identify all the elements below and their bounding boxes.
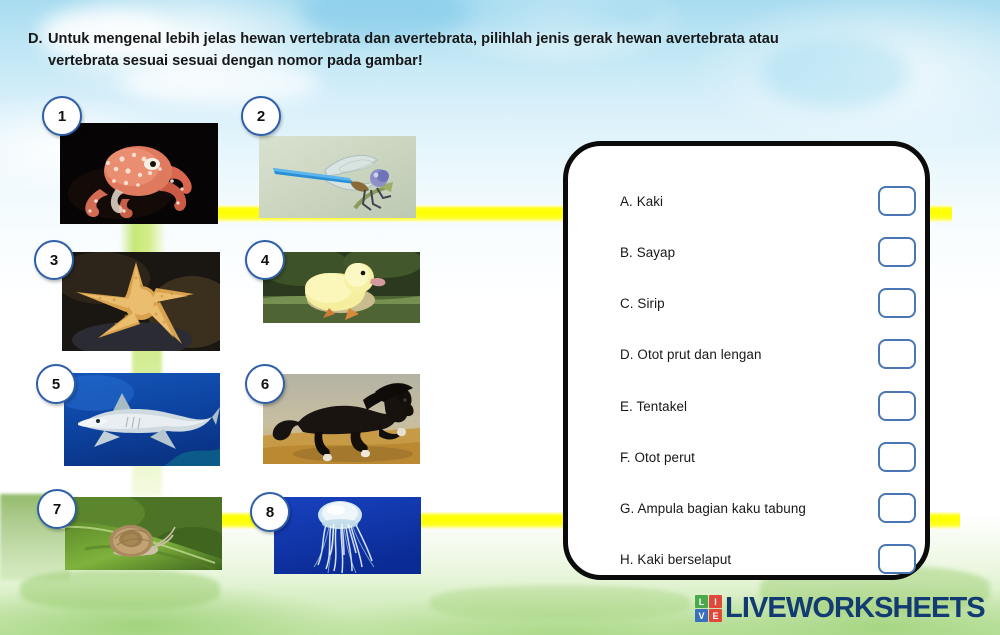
logo-tile-v: V [695,609,708,622]
jellyfish-image[interactable] [274,497,421,574]
option-label-h: H. Kaki berselaput [620,552,731,567]
option-label-e: E. Tentakel [620,399,687,414]
starfish-image[interactable] [62,252,220,351]
badge-number: 1 [58,108,66,125]
instruction-text: D.Untuk mengenal lebih jelas hewan verte… [28,28,948,72]
option-text-f: Otot perut [634,450,695,465]
option-label-b: B. Sayap [620,245,675,260]
option-label-a: A. Kaki [620,194,663,209]
badge-number: 7 [53,501,61,518]
dragonfly-image[interactable] [259,136,416,218]
logo-tile-e: E [709,609,722,622]
option-row-a: A. Kaki [620,184,916,218]
option-label-d: D. Otot prut dan lengan [620,347,762,362]
option-text-d: Otot prut dan lengan [637,347,761,362]
option-label-c: C. Sirip [620,296,665,311]
instruction-line-2: vertebrata sesuai sesuai dengan nomor pa… [28,50,948,72]
logo-tile-i: I [709,595,722,608]
picture-number-badge: 5 [36,364,76,404]
option-row-g: G. Ampula bagian kaku tabung [620,491,916,525]
logo-tiles: L I V E [695,595,722,622]
picture-number-badge: 3 [34,240,74,280]
picture-number-badge: 6 [245,364,285,404]
duckling-image[interactable] [263,252,420,323]
option-letter-d: D. [620,347,634,362]
option-row-d: D. Otot prut dan lengan [620,337,916,371]
option-label-f: F. Otot perut [620,450,695,465]
picture-number-badge: 7 [37,489,77,529]
option-letter-f: F. [620,450,631,465]
option-letter-g: G. [620,501,634,516]
option-text-e: Tentakel [636,399,687,414]
grass-speck [430,586,690,620]
instruction-line-1: Untuk mengenal lebih jelas hewan vertebr… [48,31,779,47]
option-letter-e: E. [620,399,633,414]
option-checkbox-d[interactable] [878,339,916,369]
option-row-f: F. Otot perut [620,440,916,474]
option-letter-a: A. [620,194,633,209]
snail-image[interactable] [65,497,222,570]
picture-number-badge: 1 [42,96,82,136]
option-row-e: E. Tentakel [620,389,916,423]
badge-number: 2 [257,108,265,125]
option-letter-h: H. [620,552,634,567]
horse-image[interactable] [263,374,420,464]
options-panel: A. Kaki B. Sayap C. Sirip D. Otot prut d… [563,141,930,580]
option-row-c: C. Sirip [620,286,916,320]
badge-number: 8 [266,504,274,521]
option-checkbox-e[interactable] [878,391,916,421]
liveworksheets-logo: L I V E LIVEWORKSHEETS [695,594,985,623]
shark-image[interactable] [64,373,220,466]
octopus-image[interactable] [60,123,218,224]
option-label-g: G. Ampula bagian kaku tabung [620,501,806,516]
option-letter-b: B. [620,245,633,260]
badge-number: 5 [52,376,60,393]
picture-number-badge: 2 [241,96,281,136]
option-text-b: Sayap [637,245,675,260]
badge-number: 3 [50,252,58,269]
option-checkbox-h[interactable] [878,544,916,574]
option-checkbox-a[interactable] [878,186,916,216]
badge-number: 4 [261,252,269,269]
worksheet-page: D.Untuk mengenal lebih jelas hewan verte… [0,0,1000,635]
badge-number: 6 [261,376,269,393]
option-text-c: Sirip [637,296,664,311]
option-checkbox-g[interactable] [878,493,916,523]
option-letter-c: C. [620,296,634,311]
option-text-g: Ampula bagian kaku tabung [637,501,806,516]
picture-number-badge: 8 [250,492,290,532]
option-checkbox-b[interactable] [878,237,916,267]
picture-number-badge: 4 [245,240,285,280]
instruction-marker: D. [28,28,48,50]
option-row-b: B. Sayap [620,235,916,269]
logo-wordmark: LIVEWORKSHEETS [725,594,985,623]
logo-tile-l: L [695,595,708,608]
option-text-h: Kaki berselaput [637,552,731,567]
option-text-a: Kaki [637,194,663,209]
option-checkbox-f[interactable] [878,442,916,472]
option-row-h: H. Kaki berselaput [620,542,916,576]
option-checkbox-c[interactable] [878,288,916,318]
